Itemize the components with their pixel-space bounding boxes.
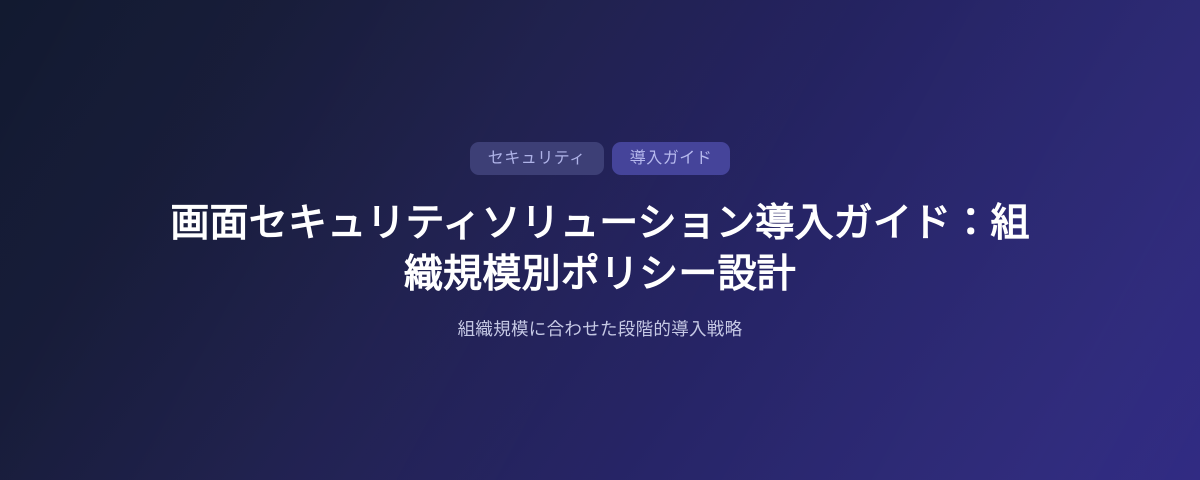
badge-row: セキュリティ 導入ガイド [470, 142, 731, 175]
hero-banner: セキュリティ 導入ガイド 画面セキュリティソリューション導入ガイド：組織規模別ポ… [0, 0, 1200, 480]
page-title: 画面セキュリティソリューション導入ガイド：組織規模別ポリシー設計 [170, 198, 1030, 300]
badge-guide[interactable]: 導入ガイド [612, 142, 731, 175]
page-subtitle: 組織規模に合わせた段階的導入戦略 [458, 316, 743, 342]
badge-security[interactable]: セキュリティ [470, 142, 604, 175]
hero-content: セキュリティ 導入ガイド 画面セキュリティソリューション導入ガイド：組織規模別ポ… [0, 0, 1200, 342]
